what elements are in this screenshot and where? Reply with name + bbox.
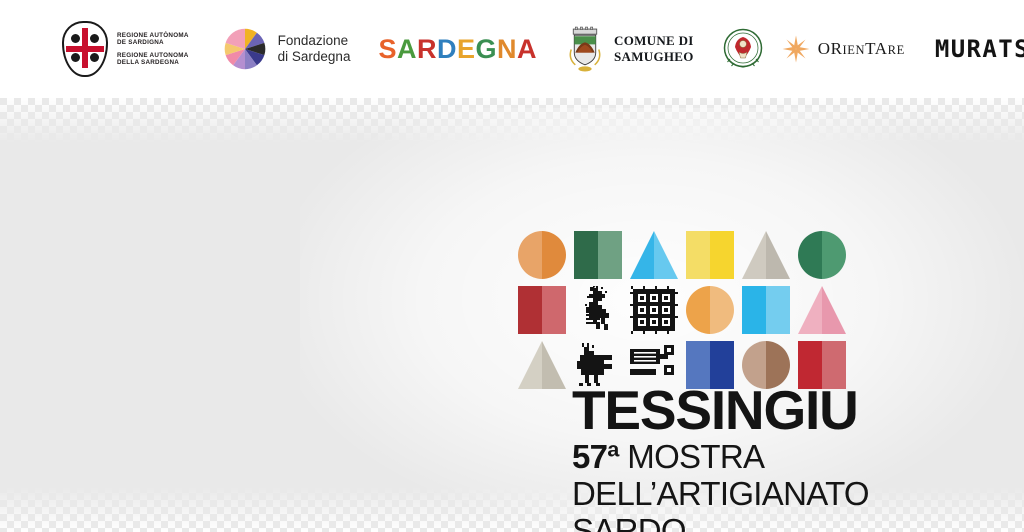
subtitle-line-3: SARDO bbox=[572, 514, 869, 532]
woven-texture-top bbox=[0, 98, 1024, 144]
sardegna-letter: A bbox=[397, 36, 417, 63]
sardinian-lattice-motif-icon bbox=[630, 286, 678, 334]
motif-square bbox=[574, 231, 622, 279]
murats-wordmark: MURATS bbox=[935, 36, 1024, 62]
subtitle-line-2: DELL’ARTIGIANATO bbox=[572, 477, 869, 511]
starburst-icon bbox=[782, 35, 810, 63]
fondazione-label: Fondazione di Sardegna bbox=[278, 33, 351, 66]
sardegna-letter: R bbox=[417, 36, 437, 63]
textile-motif-grid bbox=[518, 231, 846, 389]
orientare-part: RE bbox=[888, 43, 905, 57]
color-wheel-icon bbox=[223, 27, 267, 71]
ra-line-1: REGIONE AUTÒNOMA bbox=[117, 32, 189, 39]
sponsor-murats: MURATS Museo Unico Regionale Arte Tessil… bbox=[935, 34, 1024, 63]
orientare-part: OR bbox=[818, 39, 843, 58]
comune-label: COMUNE DI SAMUGHEO bbox=[614, 33, 694, 65]
motif-circle bbox=[798, 231, 846, 279]
sardegna-letter: S bbox=[378, 36, 397, 63]
sponsor-comune-di-samugheo: COMUNE DI SAMUGHEO bbox=[567, 25, 694, 73]
sardegna-letter: D bbox=[437, 36, 457, 63]
motif-circle bbox=[518, 231, 566, 279]
sardegna-letter: G bbox=[475, 36, 497, 63]
motif-square bbox=[518, 286, 566, 334]
orientare-part: TA bbox=[865, 39, 888, 58]
motif-triangle bbox=[630, 231, 678, 279]
sardinian-horse-motif-icon bbox=[574, 286, 622, 334]
sponsor-sardegna-wordmark: SARDEGNA bbox=[378, 36, 537, 63]
motif-circle bbox=[686, 286, 734, 334]
ra-line-3: REGIONE AUTONOMA bbox=[117, 52, 189, 59]
fondazione-line-1: Fondazione bbox=[278, 33, 351, 49]
regione-autonoma-label: REGIONE AUTÒNOMA DE SARDIGNA REGIONE AUT… bbox=[117, 32, 189, 65]
comune-line-2: SAMUGHEO bbox=[614, 49, 694, 65]
municipal-coat-of-arms-icon bbox=[567, 25, 603, 73]
orientare-label: ORIENTARE bbox=[818, 39, 905, 59]
sponsor-regione-autonoma-sardegna: REGIONE AUTÒNOMA DE SARDIGNA REGIONE AUT… bbox=[62, 21, 189, 77]
motif-triangle bbox=[798, 286, 846, 334]
fondazione-line-2: di Sardegna bbox=[278, 49, 351, 65]
sponsor-pro-loco-di-samugheo bbox=[718, 24, 768, 74]
poster-main-panel: TESSINGIU 57ª MOSTRA DELL’ARTIGIANATO SA… bbox=[0, 98, 1024, 532]
sardinia-four-moors-crest-icon bbox=[62, 21, 108, 77]
sardegna-letter: N bbox=[497, 36, 517, 63]
page-title: TESSINGIU bbox=[572, 384, 869, 437]
ra-line-2: DE SARDIGNA bbox=[117, 39, 189, 46]
orientare-part: IEN bbox=[843, 43, 866, 57]
edition-ordinal: 57ª bbox=[572, 438, 619, 475]
poster-title-block: TESSINGIU 57ª MOSTRA DELL’ARTIGIANATO SA… bbox=[572, 384, 869, 532]
subtitle-line-1: 57ª MOSTRA bbox=[572, 440, 869, 474]
ra-line-4: DELLA SARDEGNA bbox=[117, 59, 189, 66]
motif-triangle bbox=[742, 231, 790, 279]
sponsor-orientare: ORIENTARE bbox=[782, 35, 905, 63]
poster-root: REGIONE AUTÒNOMA DE SARDIGNA REGIONE AUT… bbox=[0, 0, 1024, 532]
comune-line-1: COMUNE DI bbox=[614, 33, 694, 49]
sardegna-letter: E bbox=[457, 36, 476, 63]
subtitle-mostra: MOSTRA bbox=[627, 438, 764, 475]
sardegna-letter: A bbox=[517, 36, 537, 63]
pro-loco-roundel-icon bbox=[718, 24, 768, 74]
sponsor-logo-bar: REGIONE AUTÒNOMA DE SARDIGNA REGIONE AUT… bbox=[0, 0, 1024, 98]
motif-square bbox=[686, 231, 734, 279]
motif-square bbox=[742, 286, 790, 334]
motif-triangle bbox=[518, 341, 566, 389]
murats-title-text: MURATS bbox=[935, 37, 1024, 61]
sponsor-fondazione-di-sardegna: Fondazione di Sardegna bbox=[223, 27, 351, 71]
woven-texture-bottom bbox=[0, 486, 1024, 532]
